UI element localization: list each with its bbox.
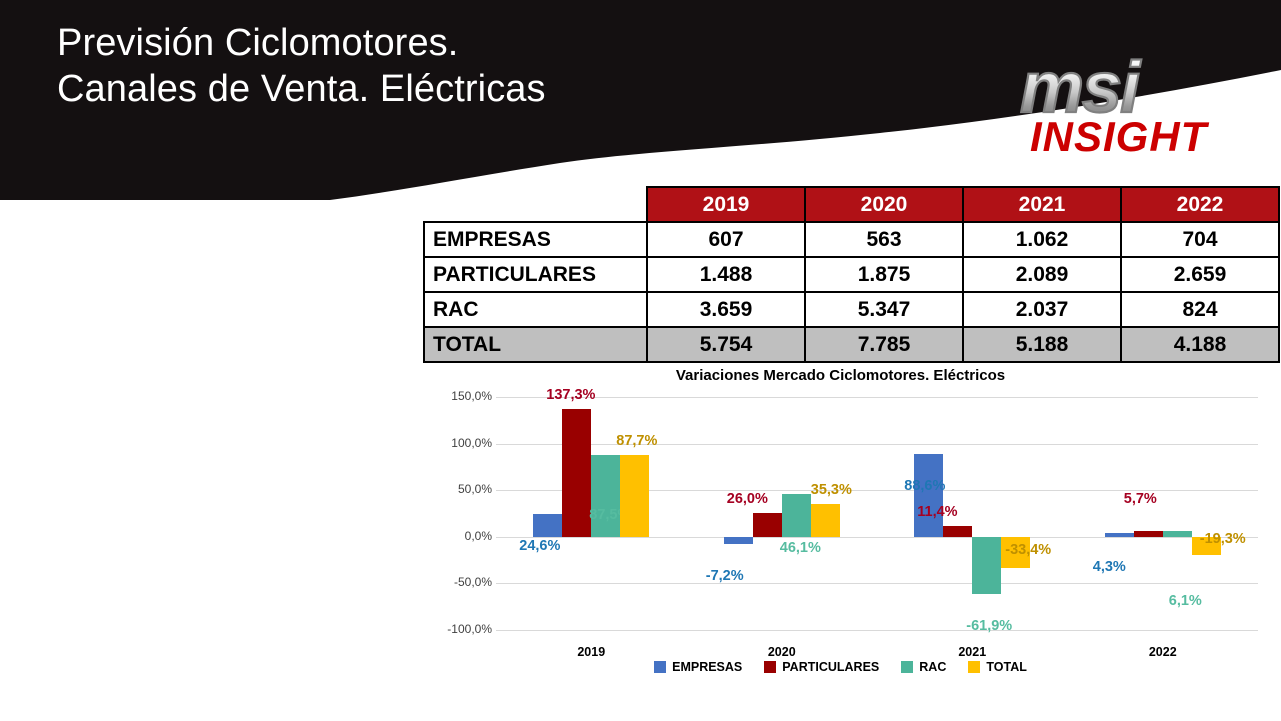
cell-total-2019: 5.754 xyxy=(647,327,805,362)
variations-bar-chart: Variaciones Mercado Ciclomotores. Eléctr… xyxy=(400,362,1281,721)
row-label-particulares: PARTICULARES xyxy=(424,257,647,292)
msi-insight-logo: msi INSIGHT xyxy=(1008,52,1258,160)
table-row: EMPRESAS 607 563 1.062 704 xyxy=(424,222,1279,257)
cell-empresas-2021: 1.062 xyxy=(963,222,1121,257)
data-label-empresas-2021: 88,6% xyxy=(904,478,945,494)
table-row: RAC 3.659 5.347 2.037 824 xyxy=(424,292,1279,327)
bar-empresas-2021[interactable] xyxy=(914,454,943,537)
bar-empresas-2020[interactable] xyxy=(724,537,753,544)
cell-rac-2021: 2.037 xyxy=(963,292,1121,327)
data-label-rac-2020: 46,1% xyxy=(780,540,821,556)
bar-group-2019: 24,6%137,3%87,5%87,7%2019 xyxy=(533,397,649,630)
bar-particulares-2022[interactable] xyxy=(1134,531,1163,536)
cell-rac-2019: 3.659 xyxy=(647,292,805,327)
data-label-total-2019: 87,7% xyxy=(616,433,657,449)
bar-empresas-2019[interactable] xyxy=(533,514,562,537)
y-axis-tick-label: 100,0% xyxy=(422,436,492,450)
legend-item-empresas[interactable]: EMPRESAS xyxy=(654,660,742,674)
bar-total-2020[interactable] xyxy=(811,504,840,537)
table-row-total: TOTAL 5.754 7.785 5.188 4.188 xyxy=(424,327,1279,362)
table-corner-cell xyxy=(424,187,647,222)
legend-swatch-icon xyxy=(968,661,980,673)
table-col-header-2020: 2020 xyxy=(805,187,963,222)
row-label-empresas: EMPRESAS xyxy=(424,222,647,257)
legend-label: TOTAL xyxy=(986,660,1027,674)
chart-legend: EMPRESASPARTICULARESRACTOTAL xyxy=(400,660,1281,674)
chart-gridline xyxy=(496,630,1258,631)
bar-group-2022: 4,3%5,7%6,1%-19,3%2022 xyxy=(1105,397,1221,630)
bar-group-2021: 88,6%11,4%-61,9%-33,4%2021 xyxy=(914,397,1030,630)
legend-item-particulares[interactable]: PARTICULARES xyxy=(764,660,879,674)
svg-text:INSIGHT: INSIGHT xyxy=(1030,113,1210,160)
cell-total-2020: 7.785 xyxy=(805,327,963,362)
y-axis-tick-label: 150,0% xyxy=(422,389,492,403)
x-axis-tick-2020: 2020 xyxy=(722,645,842,659)
cell-rac-2022: 824 xyxy=(1121,292,1279,327)
legend-item-rac[interactable]: RAC xyxy=(901,660,946,674)
data-label-total-2022: -19,3% xyxy=(1200,531,1246,547)
legend-label: EMPRESAS xyxy=(672,660,742,674)
bar-total-2019[interactable] xyxy=(620,455,649,537)
data-label-empresas-2022: 4,3% xyxy=(1093,559,1126,575)
cell-particulares-2022: 2.659 xyxy=(1121,257,1279,292)
cell-empresas-2022: 704 xyxy=(1121,222,1279,257)
data-label-total-2021: -33,4% xyxy=(1005,542,1051,558)
bar-rac-2022[interactable] xyxy=(1163,531,1192,537)
bar-group-2020: -7,2%26,0%46,1%35,3%2020 xyxy=(724,397,840,630)
legend-swatch-icon xyxy=(764,661,776,673)
data-label-rac-2022: 6,1% xyxy=(1169,593,1202,609)
cell-particulares-2019: 1.488 xyxy=(647,257,805,292)
table-row: PARTICULARES 1.488 1.875 2.089 2.659 xyxy=(424,257,1279,292)
x-axis-tick-2021: 2021 xyxy=(912,645,1032,659)
chart-title: Variaciones Mercado Ciclomotores. Eléctr… xyxy=(400,367,1281,384)
legend-swatch-icon xyxy=(901,661,913,673)
bar-empresas-2022[interactable] xyxy=(1105,533,1134,537)
legend-swatch-icon xyxy=(654,661,666,673)
table-col-header-2022: 2022 xyxy=(1121,187,1279,222)
row-label-rac: RAC xyxy=(424,292,647,327)
chart-plot-area: 150,0%100,0%50,0%0,0%-50,0%-100,0%24,6%1… xyxy=(496,397,1258,630)
y-axis-tick-label: 50,0% xyxy=(422,482,492,496)
table-col-header-2019: 2019 xyxy=(647,187,805,222)
legend-item-total[interactable]: TOTAL xyxy=(968,660,1027,674)
data-label-total-2020: 35,3% xyxy=(811,482,852,498)
data-label-rac-2021: -61,9% xyxy=(966,618,1012,634)
cell-total-2022: 4.188 xyxy=(1121,327,1279,362)
x-axis-tick-2019: 2019 xyxy=(531,645,651,659)
y-axis-tick-label: 0,0% xyxy=(422,529,492,543)
bar-rac-2019[interactable] xyxy=(591,455,620,537)
data-label-empresas-2020: -7,2% xyxy=(706,568,744,584)
y-axis-tick-label: -50,0% xyxy=(422,575,492,589)
data-label-particulares-2020: 26,0% xyxy=(727,491,768,507)
data-label-particulares-2019: 137,3% xyxy=(546,387,595,403)
page-title: Previsión Ciclomotores. Canales de Venta… xyxy=(57,20,817,112)
row-label-total: TOTAL xyxy=(424,327,647,362)
legend-label: PARTICULARES xyxy=(782,660,879,674)
y-axis-tick-label: -100,0% xyxy=(422,622,492,636)
cell-empresas-2019: 607 xyxy=(647,222,805,257)
bar-rac-2020[interactable] xyxy=(782,494,811,537)
sales-channels-table: 2019 2020 2021 2022 EMPRESAS 607 563 1.0… xyxy=(423,186,1280,363)
cell-empresas-2020: 563 xyxy=(805,222,963,257)
cell-particulares-2020: 1.875 xyxy=(805,257,963,292)
cell-particulares-2021: 2.089 xyxy=(963,257,1121,292)
bar-particulares-2019[interactable] xyxy=(562,409,591,537)
logo-insight-wordmark: INSIGHT xyxy=(1030,113,1210,160)
bar-rac-2021[interactable] xyxy=(972,537,1001,595)
cell-rac-2020: 5.347 xyxy=(805,292,963,327)
table-header-row: 2019 2020 2021 2022 xyxy=(424,187,1279,222)
cell-total-2021: 5.188 xyxy=(963,327,1121,362)
bar-particulares-2020[interactable] xyxy=(753,513,782,537)
bar-particulares-2021[interactable] xyxy=(943,526,972,537)
data-label-particulares-2021: 11,4% xyxy=(917,504,957,520)
data-label-particulares-2022: 5,7% xyxy=(1124,491,1157,507)
x-axis-tick-2022: 2022 xyxy=(1103,645,1223,659)
legend-label: RAC xyxy=(919,660,946,674)
table-col-header-2021: 2021 xyxy=(963,187,1121,222)
data-label-empresas-2019: 24,6% xyxy=(519,538,560,554)
